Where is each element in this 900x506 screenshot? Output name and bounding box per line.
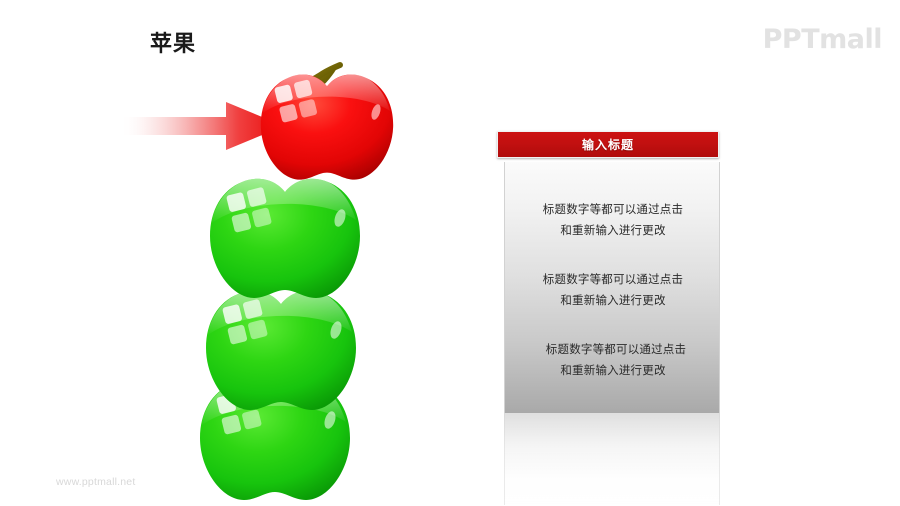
list-item[interactable]: 标题数字等都可以通过点击 和重新输入进行更改 [505, 270, 721, 312]
panel-reflection [504, 413, 720, 505]
info-panel: 输入标题 标题数字等都可以通过点击 和重新输入进行更改 标题数字等都可以通过点击… [504, 131, 720, 413]
green-apple-2 [210, 179, 360, 298]
footer-url: www.pptmall.net [56, 476, 135, 488]
apples-illustration [178, 60, 428, 506]
green-apple-3 [206, 291, 356, 410]
panel-header-bar[interactable]: 输入标题 [497, 131, 719, 158]
list-item-line1: 标题数字等都可以通过点击 [505, 200, 721, 221]
panel-body: 标题数字等都可以通过点击 和重新输入进行更改 标题数字等都可以通过点击 和重新输… [504, 162, 720, 413]
list-item[interactable]: 标题数字等都可以通过点击 和重新输入进行更改 [505, 340, 721, 382]
panel-item-list: 标题数字等都可以通过点击 和重新输入进行更改 标题数字等都可以通过点击 和重新输… [505, 162, 721, 410]
apple-stack-graphic [178, 60, 428, 506]
list-item-line2: 和重新输入进行更改 [505, 221, 721, 242]
slide-canvas: 苹果 PPTmall [0, 0, 900, 506]
list-item-line2: 和重新输入进行更改 [505, 291, 721, 312]
logo-text-lower: mall [819, 24, 882, 55]
logo-text-upper: PPT [763, 24, 820, 55]
top-red-apple [261, 65, 393, 180]
list-item-line1: 标题数字等都可以通过点击 [505, 270, 721, 291]
panel-header-title: 输入标题 [582, 136, 634, 153]
list-item-line2: 和重新输入进行更改 [505, 361, 721, 382]
page-title: 苹果 [150, 26, 196, 58]
list-item-line1: 标题数字等都可以通过点击 [505, 340, 721, 361]
pptmall-logo: PPTmall [763, 24, 882, 55]
list-item[interactable]: 标题数字等都可以通过点击 和重新输入进行更改 [505, 200, 721, 242]
